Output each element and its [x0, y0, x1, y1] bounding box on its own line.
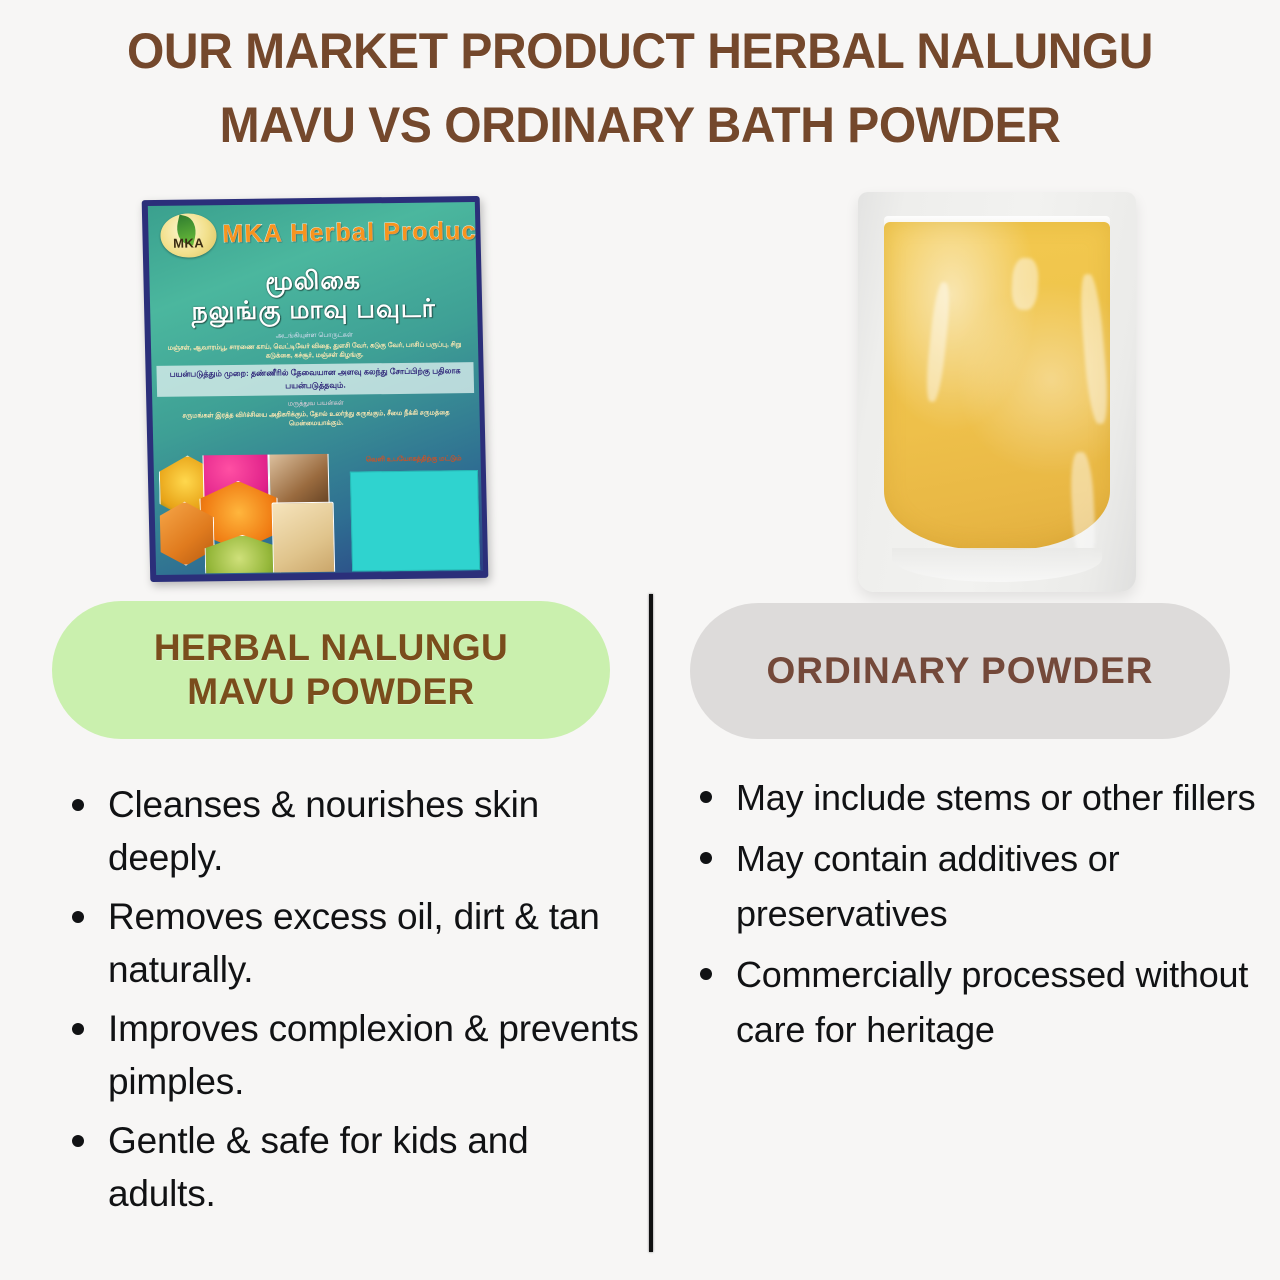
herbal-product-label-pill: HERBAL NALUNGU MAVU POWDER — [52, 601, 610, 739]
pouch-crease — [1078, 273, 1111, 424]
pouch-powder-fill — [884, 222, 1110, 550]
ordinary-product-label-pill: ORDINARY POWDER — [690, 603, 1230, 739]
herbal-packet-front: MKA MKA Herbal Products மூலிகை நலுங்கு ம… — [148, 202, 483, 575]
packet-teal-box — [350, 470, 480, 572]
pouch-crease — [1069, 451, 1097, 562]
herbal-product-label-line-1: HERBAL NALUNGU — [154, 626, 508, 670]
ordinary-product-label-text: ORDINARY POWDER — [766, 649, 1153, 693]
page-title-line-2: MAVU VS ORDINARY BATH POWDER — [26, 88, 1255, 162]
ordinary-pouch-image — [858, 192, 1136, 592]
ingredient-collage — [158, 454, 343, 574]
packet-tamil-title-line-2: நலுங்கு மாவு பவுடர் — [150, 294, 478, 330]
ordinary-drawbacks-list: May include stems or other fillers May c… — [672, 770, 1264, 1063]
list-item: Removes excess oil, dirt & tan naturally… — [44, 890, 640, 996]
vertical-divider — [649, 594, 653, 1252]
pouch-gusset — [892, 548, 1102, 582]
herbal-benefits-list: Cleanses & nourishes skin deeply. Remove… — [44, 778, 640, 1226]
packet-teal-box-label: வெளி உபயோகத்திற்கு மட்டும் — [350, 454, 478, 465]
page-title: OUR MARKET PRODUCT HERBAL NALUNGU MAVU V… — [0, 14, 1280, 162]
list-item: May contain additives or preservatives — [672, 831, 1264, 941]
list-item: Commercially processed without care for … — [672, 947, 1264, 1057]
list-item: Cleanses & nourishes skin deeply. — [44, 778, 640, 884]
packet-benefits-text: சருமங்கள் இரத்த விர்ச்சியை அதிகரிக்கும்,… — [157, 406, 475, 450]
mka-logo-icon: MKA — [160, 213, 217, 258]
powder-ingredient-icon — [272, 502, 336, 574]
product-images-row: MKA MKA Herbal Products மூலிகை நலுங்கு ம… — [0, 180, 1280, 600]
ordinary-pouch — [858, 192, 1136, 592]
pouch-crease — [1011, 257, 1040, 310]
list-item: Improves complexion & prevents pimples. — [44, 1002, 640, 1108]
herbal-product-label-text: HERBAL NALUNGU MAVU POWDER — [154, 626, 508, 714]
herbal-packet: MKA MKA Herbal Products மூலிகை நலுங்கு ம… — [142, 196, 489, 582]
list-item: Gentle & safe for kids and adults. — [44, 1114, 640, 1220]
list-item: May include stems or other fillers — [672, 770, 1264, 825]
herbal-product-label-line-2: MAVU POWDER — [154, 670, 508, 714]
pouch-crease — [924, 281, 952, 402]
page-title-line-1: OUR MARKET PRODUCT HERBAL NALUNGU — [26, 14, 1255, 88]
packet-ingredients-text: மஞ்சள், ஆவாரம்பூ, சாரணை காய், வெட்டிவேர்… — [156, 338, 473, 364]
packet-usage-text: பயன்படுத்தும் முறை: தண்ணீரில் தேவையான அள… — [156, 362, 474, 397]
mka-logo-text: MKA — [160, 235, 216, 251]
herbal-packet-image: MKA MKA Herbal Products மூலிகை நலுங்கு ம… — [146, 198, 484, 580]
packet-brand-name: MKA Herbal Products — [222, 217, 483, 249]
packet-header: MKA MKA Herbal Products — [148, 206, 476, 262]
